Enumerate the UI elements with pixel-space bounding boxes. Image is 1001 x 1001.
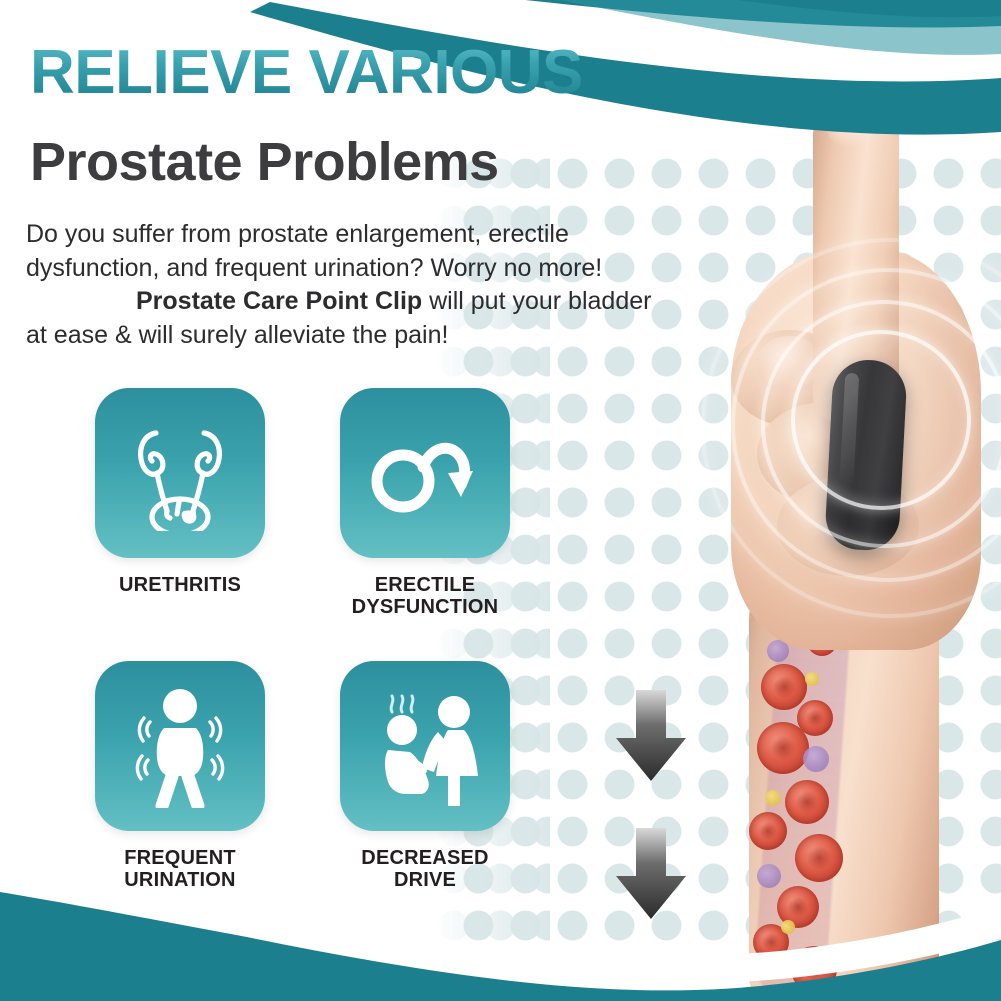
feature-card-label: DECREASED DRIVE <box>340 847 510 892</box>
feature-card-grid: URETHRITIS ERECTILE DYSFUNCTION <box>95 388 535 892</box>
feature-card-tile <box>340 661 510 831</box>
label-line-1: URETHRITIS <box>119 574 241 596</box>
label-line-2: DYSFUNCTION <box>352 596 499 618</box>
person-crossing-legs-icon <box>118 684 242 808</box>
body-copy: Do you suffer from prostate enlargement,… <box>26 218 666 352</box>
label-line-1: ERECTILE <box>375 574 476 596</box>
feature-card-tile <box>340 388 510 558</box>
male-symbol-drooping-icon <box>365 423 485 523</box>
urinary-system-icon <box>122 415 238 531</box>
body-line-1: Do you suffer from prostate enlargement,… <box>26 220 569 248</box>
feature-card-erectile-dysfunction[interactable]: ERECTILE DYSFUNCTION <box>340 388 510 619</box>
feature-card-tile <box>95 661 265 831</box>
feature-card-tile <box>95 388 265 558</box>
label-line-1: FREQUENT <box>124 847 236 869</box>
body-line-3-rest: will put your bladder <box>422 287 651 315</box>
body-line-2: dysfunction, and frequent urination? Wor… <box>26 254 602 282</box>
feature-card-label: URETHRITIS <box>95 574 265 596</box>
feature-card-frequent-urination[interactable]: FREQUENT URINATION <box>95 661 265 892</box>
feature-card-urethritis[interactable]: URETHRITIS <box>95 388 265 619</box>
label-line-1: DECREASED <box>361 847 488 869</box>
label-line-2: URINATION <box>124 869 235 891</box>
product-name: Prostate Care Point Clip <box>136 287 422 315</box>
page-title: RELIEVE VARIOUS <box>30 42 583 104</box>
feature-card-row: URETHRITIS ERECTILE DYSFUNCTION <box>95 388 535 619</box>
page-subtitle: Prostate Problems <box>30 135 499 189</box>
couple-low-libido-icon <box>362 686 488 806</box>
feature-card-decreased-drive[interactable]: DECREASED DRIVE <box>340 661 510 892</box>
label-line-2: DRIVE <box>394 869 456 891</box>
poster-canvas: RELIEVE VARIOUS Prostate Problems Do you… <box>0 0 1001 1001</box>
feature-card-row: FREQUENT URINATION <box>95 661 535 892</box>
body-line-4: at ease & will surely alleviate the pain… <box>26 321 448 349</box>
feature-card-label: ERECTILE DYSFUNCTION <box>340 574 510 619</box>
feature-card-label: FREQUENT URINATION <box>95 847 265 892</box>
